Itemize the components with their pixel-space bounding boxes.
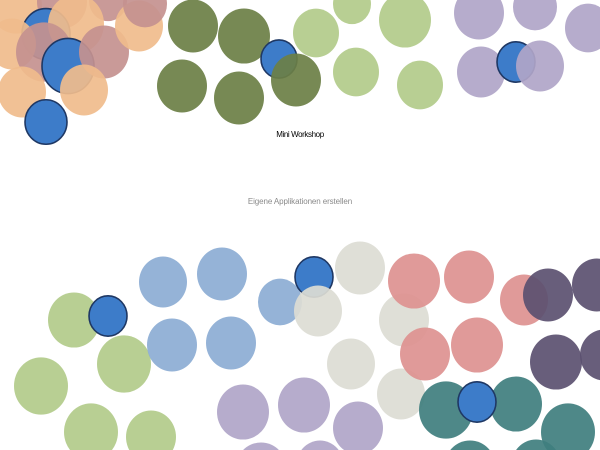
slide-text-layer: Mini Workshop Eigene Applikationen erste… <box>0 0 600 450</box>
slide-title: Mini Workshop <box>0 104 600 166</box>
slide-subtitle: Eigene Applikationen erstellen <box>0 182 600 222</box>
title-slide: Mini Workshop Eigene Applikationen erste… <box>0 0 600 450</box>
